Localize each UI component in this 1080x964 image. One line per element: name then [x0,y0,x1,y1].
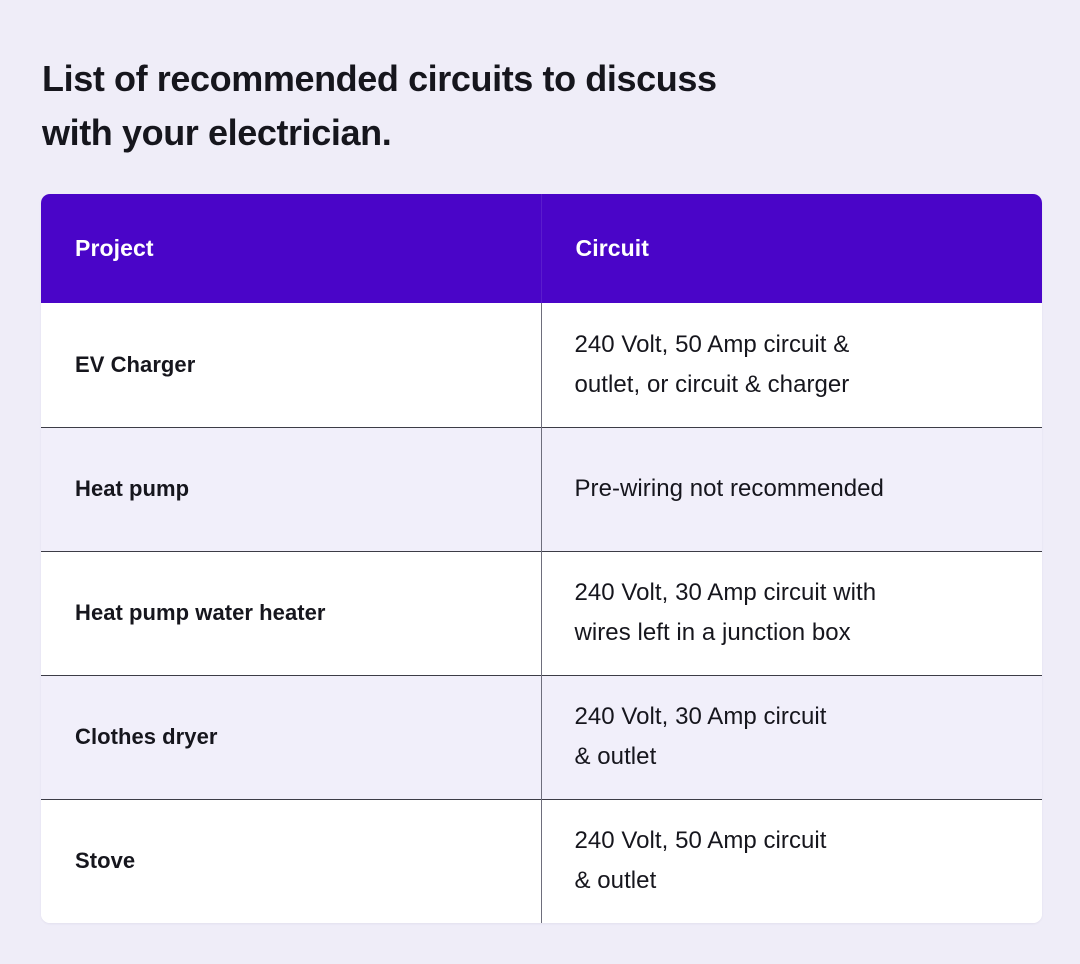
project-label: Stove [75,846,507,876]
table-row: Heat pump Pre-wiring not recommended [41,427,1042,551]
page-root: List of recommended circuits to discuss … [0,0,1080,964]
project-label: Heat pump [75,474,507,504]
circuit-description: 240 Volt, 50 Amp circuit & outlet [575,821,1019,901]
column-header-project: Project [41,194,541,303]
cell-project: Heat pump water heater [41,551,541,675]
table-header-row: Project Circuit [41,194,1042,303]
cell-circuit: 240 Volt, 50 Amp circuit & outlet [541,799,1042,923]
circuit-description: 240 Volt, 50 Amp circuit & outlet, or ci… [575,325,1019,405]
circuit-description: 240 Volt, 30 Amp circuit with wires left… [575,573,1019,653]
cell-circuit: 240 Volt, 30 Amp circuit & outlet [541,675,1042,799]
table-row: EV Charger 240 Volt, 50 Amp circuit & ou… [41,303,1042,427]
cell-circuit: 240 Volt, 50 Amp circuit & outlet, or ci… [541,303,1042,427]
cell-project: Clothes dryer [41,675,541,799]
circuit-description: 240 Volt, 30 Amp circuit & outlet [575,697,1019,777]
cell-project: EV Charger [41,303,541,427]
column-header-circuit: Circuit [541,194,1042,303]
table-body: EV Charger 240 Volt, 50 Amp circuit & ou… [41,303,1042,923]
page-title: List of recommended circuits to discuss … [42,52,942,160]
project-label: EV Charger [75,350,507,380]
cell-circuit: 240 Volt, 30 Amp circuit with wires left… [541,551,1042,675]
circuit-description: Pre-wiring not recommended [575,469,1019,509]
table-row: Clothes dryer 240 Volt, 30 Amp circuit &… [41,675,1042,799]
table-header: Project Circuit [41,194,1042,303]
project-label: Clothes dryer [75,722,507,752]
cell-project: Heat pump [41,427,541,551]
circuits-table: Project Circuit EV Charger 240 Volt, 50 … [41,194,1042,923]
cell-circuit: Pre-wiring not recommended [541,427,1042,551]
table-row: Stove 240 Volt, 50 Amp circuit & outlet [41,799,1042,923]
cell-project: Stove [41,799,541,923]
circuits-table-card: Project Circuit EV Charger 240 Volt, 50 … [41,194,1042,923]
project-label: Heat pump water heater [75,598,507,628]
table-row: Heat pump water heater 240 Volt, 30 Amp … [41,551,1042,675]
